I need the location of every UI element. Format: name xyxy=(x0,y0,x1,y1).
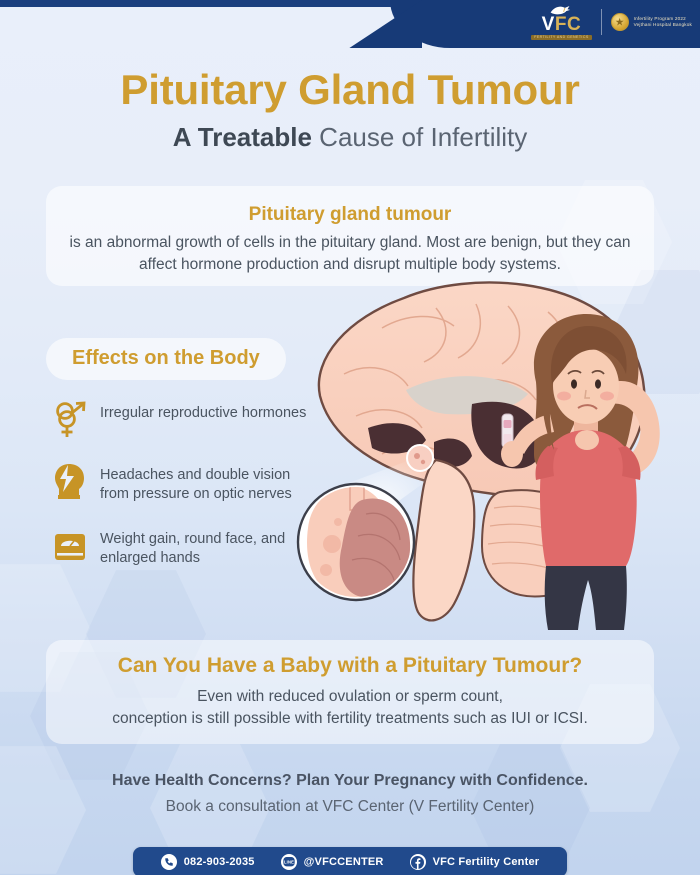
infographic-poster: VFC FERTILITY AND GENETICS ★ Infertility… xyxy=(0,0,700,875)
contact-phone[interactable]: 082-903-2035 xyxy=(161,854,255,870)
subtitle-strong: A Treatable xyxy=(173,122,312,152)
phone-icon xyxy=(161,854,177,870)
contact-line[interactable]: LINE @VFCCENTER xyxy=(281,854,384,870)
intro-card-heading: Pituitary gland tumour xyxy=(46,186,654,226)
pants xyxy=(545,566,627,630)
list-item-label: Headaches and double vision from pressur… xyxy=(100,462,320,504)
effects-section-pill: Effects on the Body xyxy=(46,338,286,380)
list-item: Irregular reproductive hormones xyxy=(52,400,320,440)
cta-subline: Book a consultation at VFC Center (V Fer… xyxy=(0,798,700,816)
baby-card-line-2: conception is still possible with fertil… xyxy=(64,708,636,730)
baby-question-card: Can You Have a Baby with a Pituitary Tum… xyxy=(46,640,654,744)
facebook-icon xyxy=(410,854,426,870)
line-id: @VFCCENTER xyxy=(304,856,384,868)
baby-card-line-1: Even with reduced ovulation or sperm cou… xyxy=(64,686,636,708)
medal-icon: ★ xyxy=(611,13,629,31)
vfc-letter-v: V xyxy=(542,14,555,35)
footer-contact-bar: 082-903-2035 LINE @VFCCENTER VFC Fertili… xyxy=(133,847,567,875)
list-item: Headaches and double vision from pressur… xyxy=(52,462,320,504)
page-subtitle: A Treatable Cause of Infertility xyxy=(0,122,700,153)
intro-card-body: is an abnormal growth of cells in the pi… xyxy=(46,226,654,277)
head-lightning-icon xyxy=(52,462,88,502)
award-badge: ★ Infertility Program 2022 Vejthani Hosp… xyxy=(611,13,692,31)
weight-scale-icon xyxy=(52,526,88,566)
line-icon: LINE xyxy=(281,854,297,870)
vfc-logo[interactable]: VFC FERTILITY AND GENETICS xyxy=(531,4,591,41)
header-divider xyxy=(601,9,602,35)
baby-card-heading: Can You Have a Baby with a Pituitary Tum… xyxy=(46,640,654,678)
phone-number: 082-903-2035 xyxy=(184,856,255,868)
header-branding: VFC FERTILITY AND GENETICS ★ Infertility… xyxy=(531,0,692,44)
page-title: Pituitary Gland Tumour xyxy=(0,66,700,114)
gender-symbols-icon xyxy=(52,400,88,440)
vfc-letters-fc: FC xyxy=(555,14,581,35)
cta-headline: Have Health Concerns? Plan Your Pregnanc… xyxy=(0,772,700,790)
award-line-2: Vejthani Hospital Bangkok xyxy=(634,22,692,28)
vfc-wordmark: VFC xyxy=(542,15,582,34)
svg-text:LINE: LINE xyxy=(284,859,294,864)
list-item-label: Irregular reproductive hormones xyxy=(100,400,306,423)
list-item-label: Weight gain, round face, and enlarged ha… xyxy=(100,526,320,568)
vfc-logo-tagline: FERTILITY AND GENETICS xyxy=(531,35,591,41)
contact-facebook[interactable]: VFC Fertility Center xyxy=(410,854,540,870)
illustration-brain-scene xyxy=(286,278,700,630)
intro-card: Pituitary gland tumour is an abnormal gr… xyxy=(46,186,654,286)
facebook-page: VFC Fertility Center xyxy=(433,856,540,868)
list-item: Weight gain, round face, and enlarged ha… xyxy=(52,526,320,568)
subtitle-rest: Cause of Infertility xyxy=(312,122,527,152)
pituitary-gland-marker xyxy=(407,445,433,471)
brainstem xyxy=(413,460,474,620)
effects-list: Irregular reproductive hormones Headache… xyxy=(52,400,320,591)
